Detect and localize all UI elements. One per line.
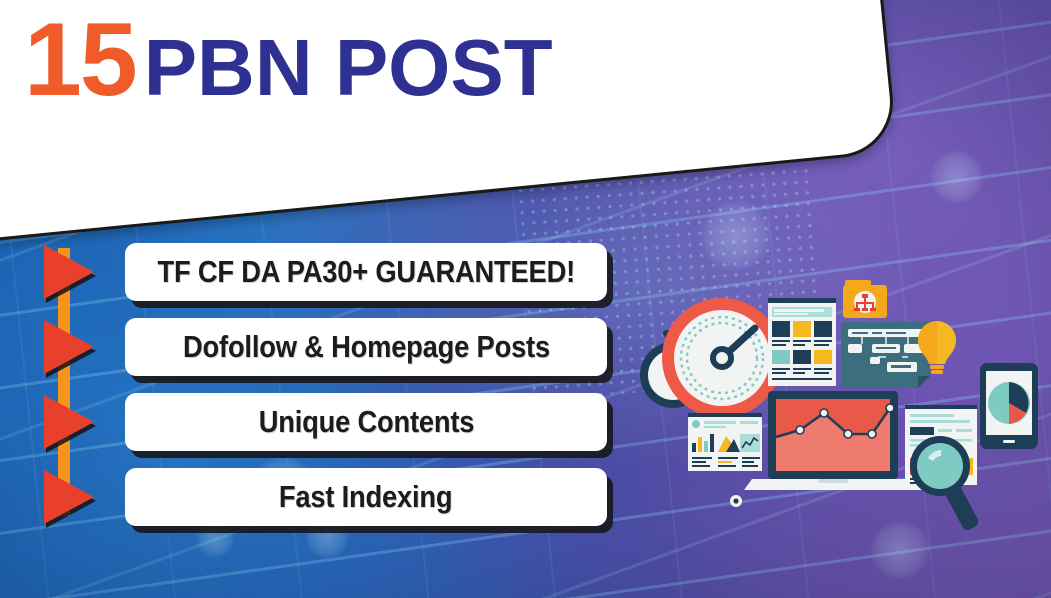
promo-banner: 15 PBN POST TF CF DA PA30+ GUARANTEED! D… [0, 0, 1051, 598]
feature-label: Unique Contents [258, 404, 474, 440]
feature-label: Dofollow & Homepage Posts [183, 329, 550, 365]
service-title: PBN POST [144, 28, 553, 108]
marker-arrow-icon [44, 395, 94, 449]
feature-box[interactable]: Fast Indexing [125, 468, 607, 526]
marker-arrow-icon [44, 320, 94, 374]
marker-arrow-icon [44, 245, 94, 299]
feature-box[interactable]: TF CF DA PA30+ GUARANTEED! [125, 243, 607, 301]
illustration-svg [640, 258, 1051, 558]
speedometer-gauge-icon [662, 298, 782, 418]
marker-arrow-icon [44, 470, 94, 524]
quantity-number: 15 [24, 8, 136, 112]
feature-label: Fast Indexing [279, 479, 453, 515]
flowchart-card-icon [841, 322, 930, 388]
tablet-pie-chart-icon [980, 363, 1038, 449]
page-title: 15 PBN POST [24, 8, 553, 112]
feature-label: TF CF DA PA30+ GUARANTEED! [157, 254, 575, 290]
pie-chart [988, 382, 1030, 424]
accent-dot-core [733, 498, 738, 503]
feature-box[interactable]: Dofollow & Homepage Posts [125, 318, 607, 376]
dashboard-card-icon [688, 413, 762, 471]
folder-sitemap-icon [843, 280, 887, 318]
feature-box[interactable]: Unique Contents [125, 393, 607, 451]
laptop-line-chart-icon [744, 391, 922, 490]
document-page-icon [768, 298, 836, 386]
seo-illustration [640, 258, 1051, 558]
